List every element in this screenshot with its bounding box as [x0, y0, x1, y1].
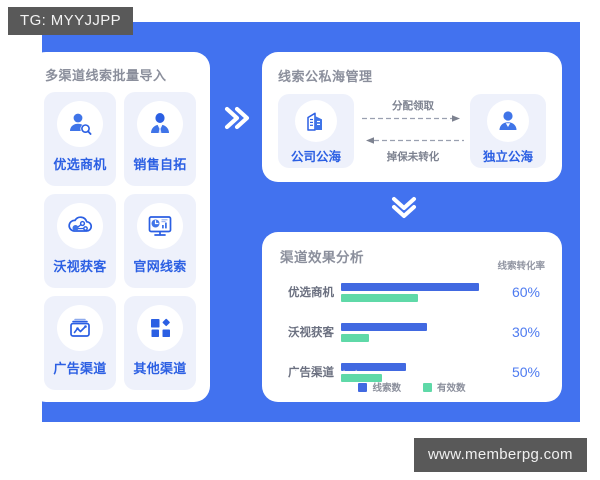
multi-channel-import-panel: 多渠道线索批量导入 优选商机 — [30, 52, 210, 402]
independent-pool-label: 独立公海 — [483, 146, 533, 165]
chart-category-label: 沃视获客 — [276, 324, 341, 340]
pool-flow-arrows: 分配领取 掉保未转化 — [360, 98, 466, 164]
bar-lead-count — [341, 323, 427, 331]
chart-row: 优选商机60% — [276, 276, 548, 308]
person-icon — [487, 100, 529, 142]
bar-valid-count — [341, 334, 369, 342]
channel-tile-label: 销售自拓 — [133, 154, 186, 173]
chart-row: 沃视获客30% — [276, 316, 548, 348]
channel-tile-grid: 优选商机 销售自拓 — [44, 92, 196, 390]
channel-tile-youxuan-shangji[interactable]: 优选商机 — [44, 92, 116, 186]
bar-lead-count — [341, 283, 479, 291]
lead-pool-management-panel: 线索公私海管理 公司公海 分配领取 — [262, 52, 562, 182]
telegram-watermark: TG: MYYJJPP — [8, 7, 133, 35]
ad-chart-icon — [57, 305, 103, 351]
legend-swatch — [358, 383, 367, 392]
legend-item: 线索数 — [358, 380, 401, 394]
legend-item: 有效数 — [423, 380, 466, 394]
cloud-network-icon — [57, 203, 103, 249]
channel-tile-guanggao-qudao[interactable]: 广告渠道 — [44, 296, 116, 390]
channel-tile-guanwang-xiansuo[interactable]: 官网线索 — [124, 194, 196, 288]
legend-swatch — [423, 383, 432, 392]
screenshot-stage: 多渠道线索批量导入 优选商机 — [0, 0, 600, 480]
squares-grid-icon — [137, 305, 183, 351]
chart-rate-value: 30% — [481, 324, 548, 340]
legend-label: 有效数 — [437, 380, 466, 394]
chart-ellipsis: · · · · · · — [294, 365, 361, 376]
channel-tile-label: 优选商机 — [53, 154, 106, 173]
chart-rate-value: 50% — [481, 364, 548, 380]
building-icon — [295, 100, 337, 142]
channel-tile-label: 官网线索 — [133, 256, 186, 275]
channel-tile-woshi-huoke[interactable]: 沃视获客 — [44, 194, 116, 288]
company-pool-card[interactable]: 公司公海 — [278, 94, 354, 168]
chart-bar-group — [341, 283, 481, 302]
person-search-icon — [57, 101, 103, 147]
channel-tile-label: 其他渠道 — [133, 358, 186, 377]
company-pool-label: 公司公海 — [291, 146, 341, 165]
chart-category-label: 优选商机 — [276, 284, 341, 300]
channel-tile-xiaoshou-zituo[interactable]: 销售自拓 — [124, 92, 196, 186]
arrow-right-dashed — [360, 114, 466, 123]
independent-pool-card[interactable]: 独立公海 — [470, 94, 546, 168]
chart-legend: 线索数有效数 — [262, 380, 562, 394]
conversion-rate-header: 线索转化率 — [497, 258, 545, 272]
chart-title: 渠道效果分析 — [280, 246, 364, 266]
chevron-double-down-icon — [386, 192, 422, 224]
chart-bar-group — [341, 363, 481, 382]
site-watermark: www.memberpg.com — [414, 438, 587, 472]
channel-tile-qita-qudao[interactable]: 其他渠道 — [124, 296, 196, 390]
right-top-panel-title: 线索公私海管理 — [278, 66, 373, 85]
channel-effect-analysis-panel: 渠道效果分析 线索转化率 优选商机60%沃视获客30%广告渠道50% · · ·… — [262, 232, 562, 402]
monitor-analytics-icon — [137, 203, 183, 249]
chevron-double-right-icon — [218, 100, 254, 136]
flow-bottom-label: 掉保未转化 — [360, 149, 466, 164]
chart-rate-value: 60% — [481, 284, 548, 300]
channel-tile-label: 沃视获客 — [53, 256, 106, 275]
bar-valid-count — [341, 294, 418, 302]
businessman-icon — [137, 101, 183, 147]
left-panel-title: 多渠道线索批量导入 — [45, 65, 167, 84]
chart-bar-group — [341, 323, 481, 342]
arrow-left-dashed — [360, 136, 466, 145]
flow-top-label: 分配领取 — [360, 98, 466, 113]
channel-tile-label: 广告渠道 — [53, 358, 106, 377]
legend-label: 线索数 — [372, 380, 401, 394]
chart-rows: 优选商机60%沃视获客30%广告渠道50% — [276, 276, 548, 396]
